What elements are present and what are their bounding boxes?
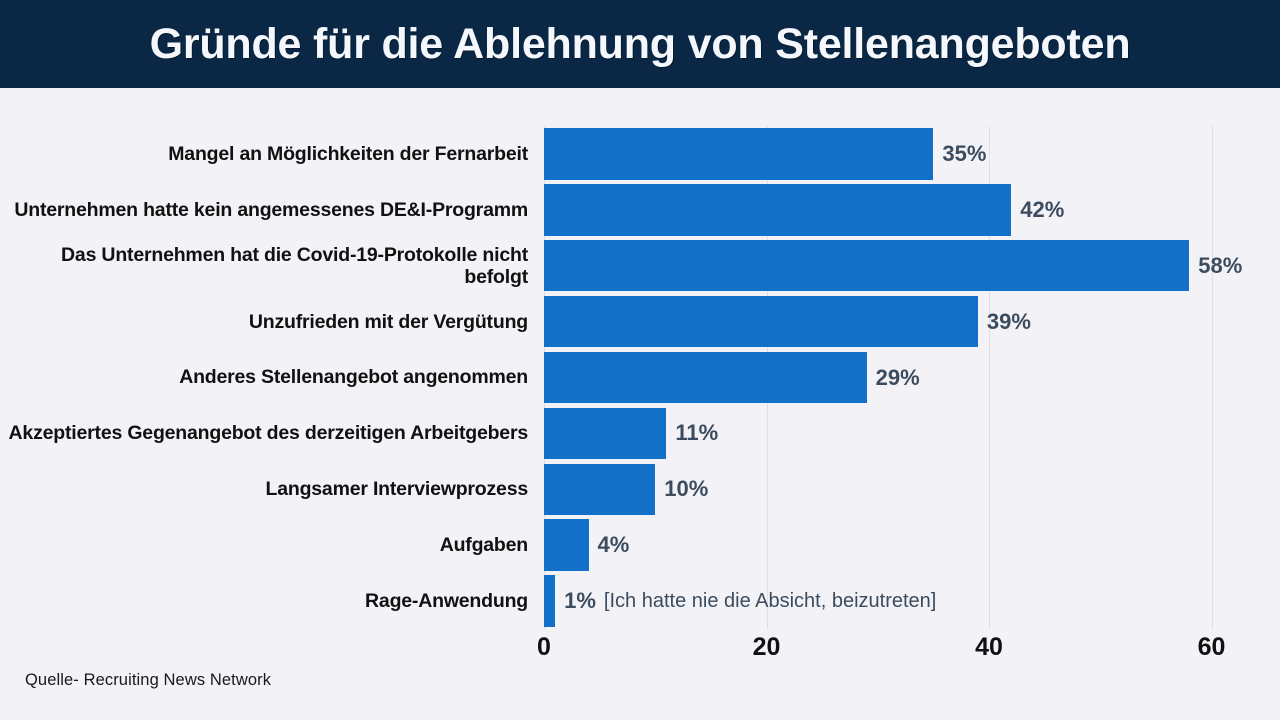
bar[interactable] bbox=[544, 296, 978, 348]
title-banner: Gründe für die Ablehnung von Stellenange… bbox=[0, 0, 1280, 88]
bar-category-label: Rage-Anwendung bbox=[0, 590, 528, 612]
x-axis-tick-label: 0 bbox=[537, 633, 551, 662]
bar[interactable] bbox=[544, 408, 666, 460]
bar-value-label: 42% bbox=[1020, 197, 1064, 223]
bar-row[interactable]: Unternehmen hatte kein angemessenes DE&I… bbox=[0, 182, 1280, 238]
bar-row[interactable]: Das Unternehmen hat die Covid-19-Protoko… bbox=[0, 238, 1280, 294]
bar-category-label: Das Unternehmen hat die Covid-19-Protoko… bbox=[0, 244, 528, 288]
bar[interactable] bbox=[544, 464, 655, 516]
bar-row[interactable]: Langsamer Interviewprozess10% bbox=[0, 461, 1280, 517]
bar-value-label: 29% bbox=[876, 365, 920, 391]
bar-value-label: 4% bbox=[598, 532, 630, 558]
chart-plot-area: Mangel an Möglichkeiten der Fernarbeit35… bbox=[0, 88, 1280, 720]
bar[interactable] bbox=[544, 352, 867, 404]
bar-container: 1%[Ich hatte nie die Absicht, beizutrete… bbox=[544, 575, 936, 627]
bar-row[interactable]: Unzufrieden mit der Vergütung39% bbox=[0, 294, 1280, 350]
bar-category-label: Langsamer Interviewprozess bbox=[0, 478, 528, 500]
bar[interactable] bbox=[544, 184, 1011, 236]
bar[interactable] bbox=[544, 240, 1189, 292]
bar-row[interactable]: Anderes Stellenangebot angenommen29% bbox=[0, 350, 1280, 406]
bar-row[interactable]: Aufgaben4% bbox=[0, 517, 1280, 573]
bar-annotation: [Ich hatte nie die Absicht, beizutreten] bbox=[604, 590, 936, 613]
x-axis-tick-label: 60 bbox=[1198, 633, 1226, 662]
bar-container: 4% bbox=[544, 519, 629, 571]
x-axis-tick-label: 20 bbox=[753, 633, 781, 662]
bar-row[interactable]: Mangel an Möglichkeiten der Fernarbeit35… bbox=[0, 126, 1280, 182]
bar-category-label: Aufgaben bbox=[0, 534, 528, 556]
bar-category-label: Unzufrieden mit der Vergütung bbox=[0, 311, 528, 333]
bar-category-label: Unternehmen hatte kein angemessenes DE&I… bbox=[0, 199, 528, 221]
bar-container: 10% bbox=[544, 463, 708, 515]
bar-row[interactable]: Rage-Anwendung1%[Ich hatte nie die Absic… bbox=[0, 573, 1280, 629]
bar-category-label: Anderes Stellenangebot angenommen bbox=[0, 366, 528, 388]
page-title: Gründe für die Ablehnung von Stellenange… bbox=[150, 20, 1131, 69]
bar-value-label: 39% bbox=[987, 309, 1031, 335]
bar-value-label: 11% bbox=[675, 420, 718, 446]
bar[interactable] bbox=[544, 128, 933, 180]
bar-container: 29% bbox=[544, 352, 920, 404]
bar-category-label: Mangel an Möglichkeiten der Fernarbeit bbox=[0, 143, 528, 165]
bar-row[interactable]: Akzeptiertes Gegenangebot des derzeitige… bbox=[0, 405, 1280, 461]
bar-container: 35% bbox=[544, 128, 986, 180]
bar-container: 58% bbox=[544, 240, 1242, 292]
bar-value-label: 35% bbox=[942, 141, 986, 167]
bar-value-label: 58% bbox=[1198, 253, 1242, 279]
bar-value-label: 1% bbox=[564, 588, 596, 614]
bar-container: 11% bbox=[544, 407, 718, 459]
bar[interactable] bbox=[544, 519, 589, 571]
bar-category-label: Akzeptiertes Gegenangebot des derzeitige… bbox=[0, 422, 528, 444]
bar-container: 39% bbox=[544, 296, 1031, 348]
source-note: Quelle- Recruiting News Network bbox=[25, 671, 271, 690]
x-axis-tick-label: 40 bbox=[975, 633, 1003, 662]
x-axis: 0204060 bbox=[0, 629, 1280, 669]
bar-value-label: 10% bbox=[664, 476, 708, 502]
bar-container: 42% bbox=[544, 184, 1064, 236]
bar-rows: Mangel an Möglichkeiten der Fernarbeit35… bbox=[0, 126, 1280, 629]
bar[interactable] bbox=[544, 575, 555, 627]
